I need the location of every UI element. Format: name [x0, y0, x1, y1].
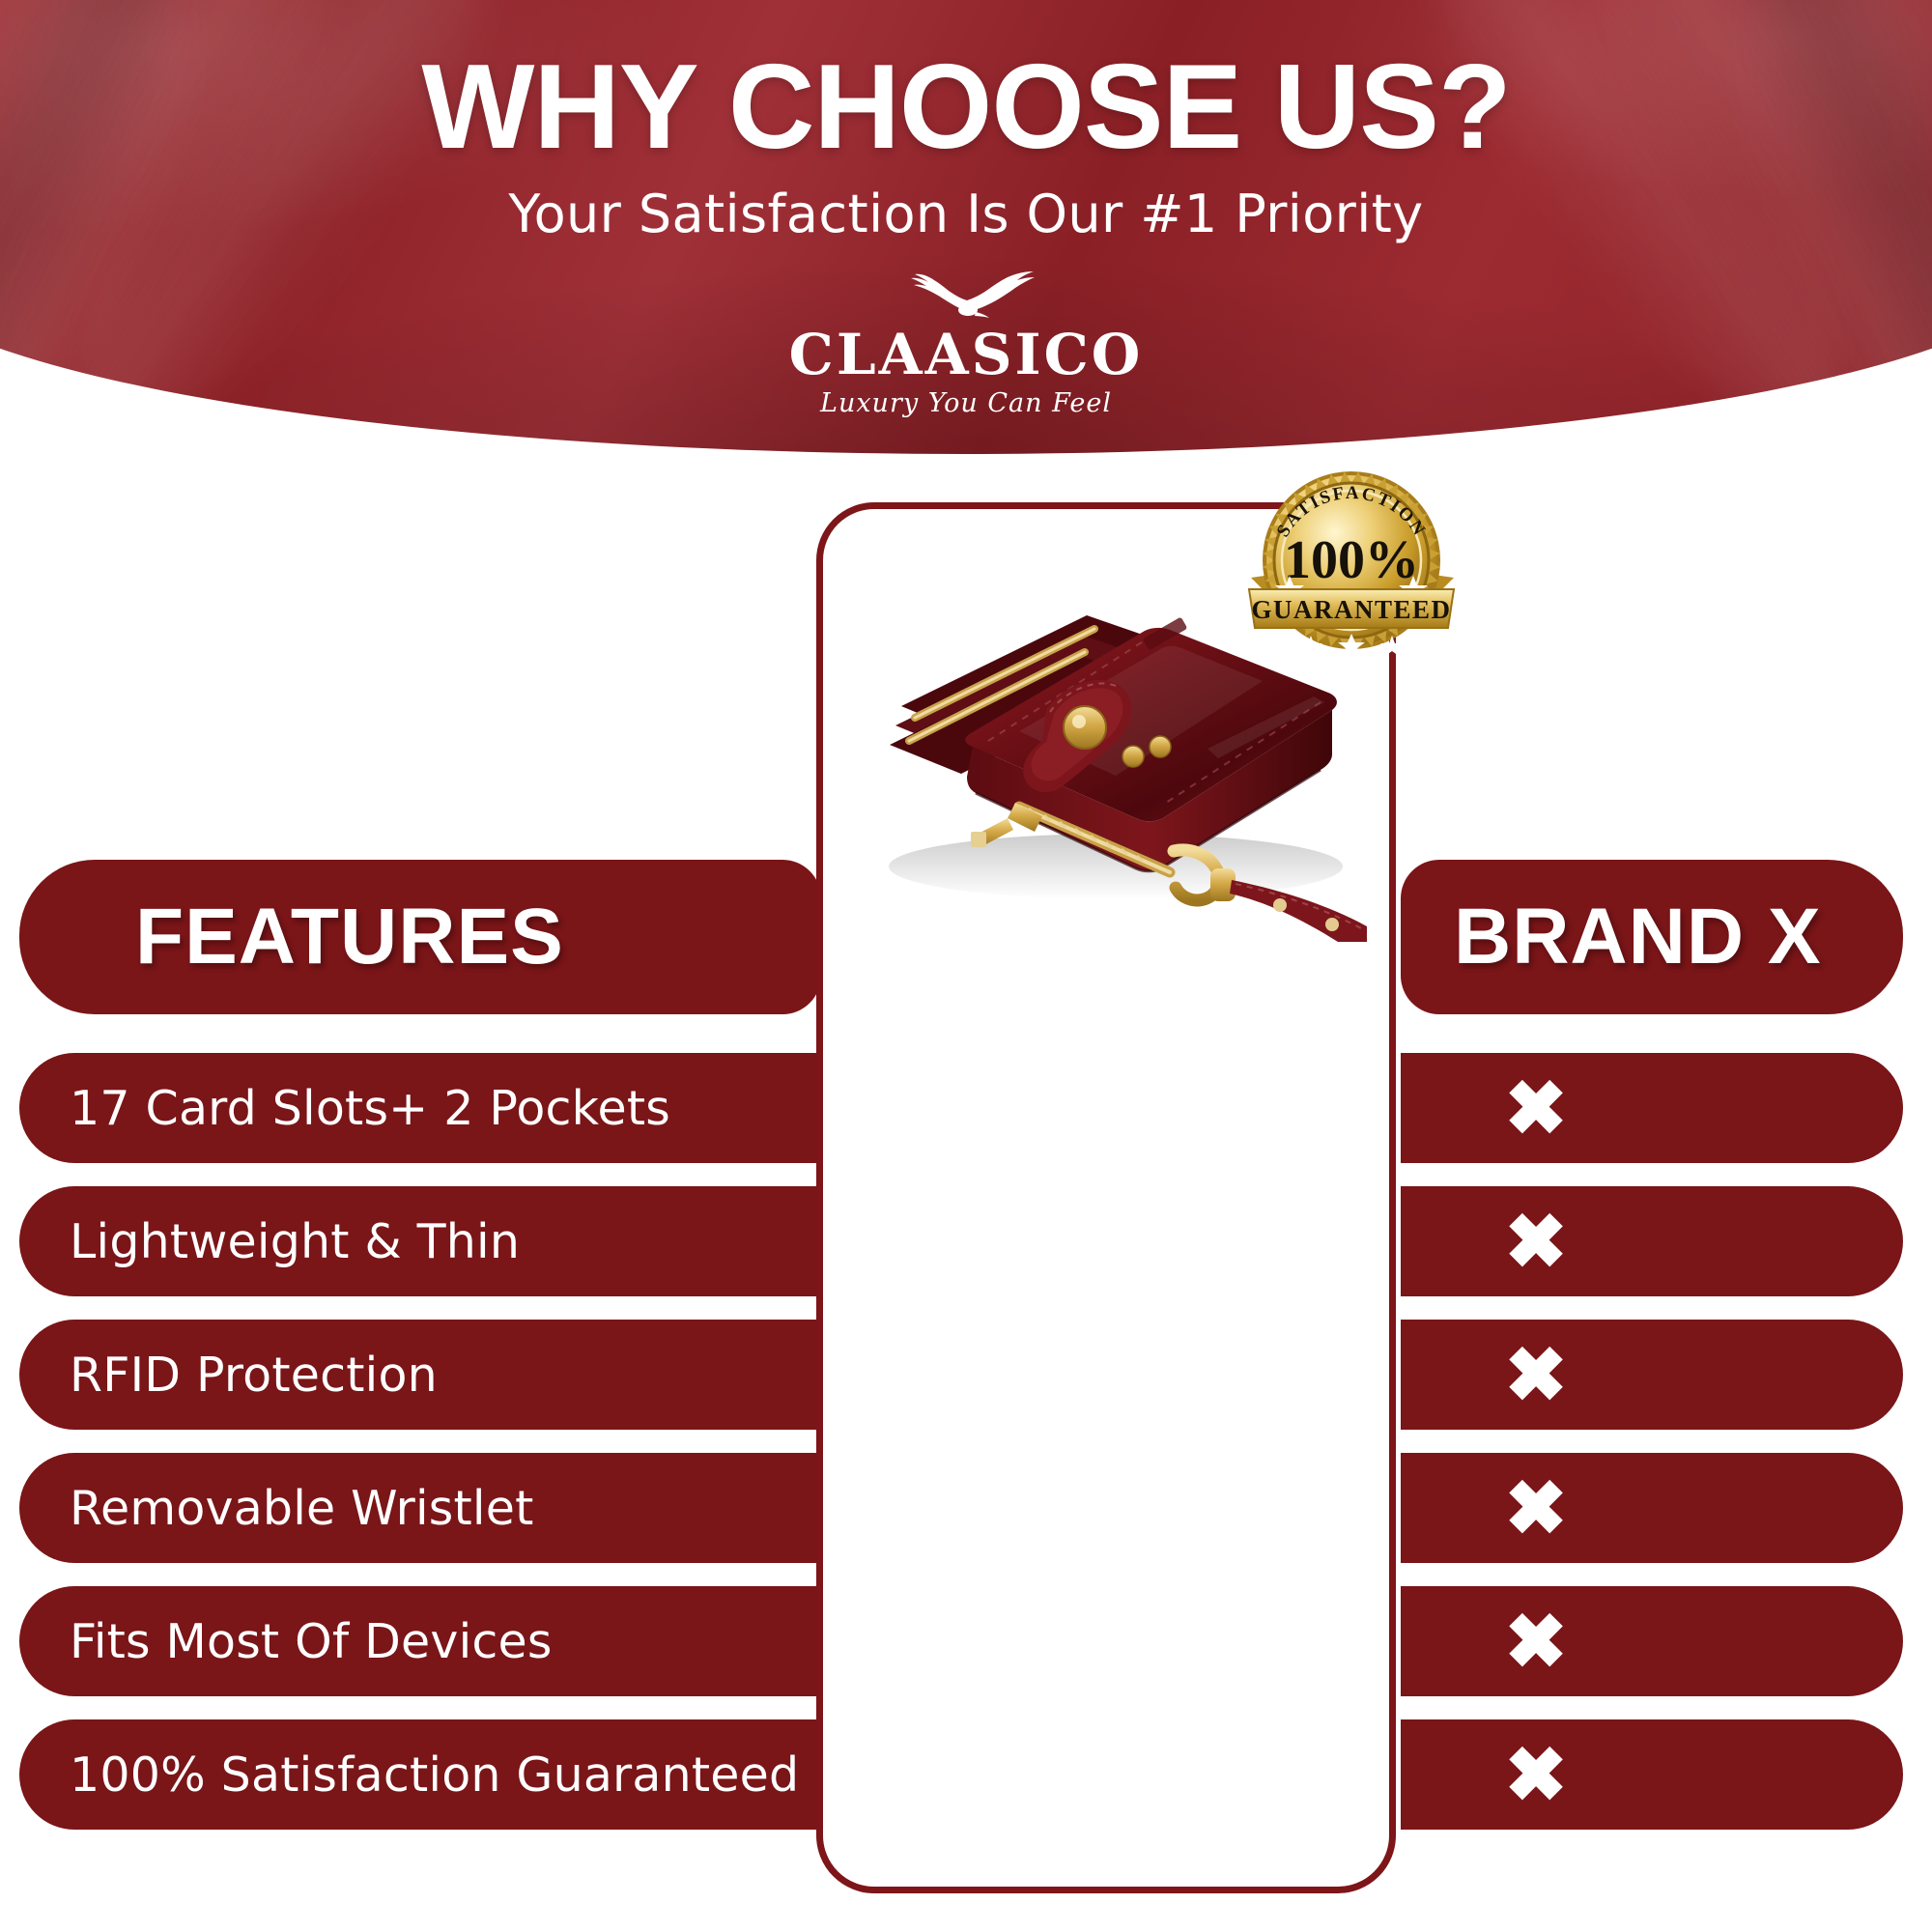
feature-row-label: Removable Wristlet	[19, 1453, 821, 1563]
feature-text: Lightweight & Thin	[70, 1214, 520, 1269]
feature-text: Removable Wristlet	[70, 1481, 534, 1536]
feature-text: 100% Satisfaction Guaranteed	[70, 1747, 799, 1803]
feature-row-label: 100% Satisfaction Guaranteed	[19, 1719, 821, 1830]
brand-x-cell: ✖	[1401, 1320, 1903, 1430]
brand-x-cell: ✖	[1401, 1586, 1903, 1696]
satisfaction-guarantee-badge: SATISFACTION 100% GUARANTEED	[1241, 464, 1463, 657]
brand-x-label: BRAND X	[1454, 892, 1822, 982]
brand-x-cell: ✖	[1401, 1453, 1903, 1563]
cross-icon: ✖	[1504, 1737, 1567, 1812]
column-header-features: FEATURES	[19, 860, 821, 1014]
badge-value: 100%	[1284, 530, 1419, 590]
feature-text: 17 Card Slots+ 2 Pockets	[70, 1081, 670, 1136]
feature-text: RFID Protection	[70, 1348, 438, 1403]
badge-ribbon-text: GUARANTEED	[1251, 595, 1451, 624]
brand-x-cell: ✖	[1401, 1186, 1903, 1296]
cross-icon: ✖	[1504, 1070, 1567, 1146]
feature-row-label: Fits Most Of Devices	[19, 1586, 821, 1696]
features-label: FEATURES	[135, 892, 564, 982]
brand-x-cell: ✖	[1401, 1053, 1903, 1163]
cross-icon: ✖	[1504, 1204, 1567, 1279]
feature-row-label: Lightweight & Thin	[19, 1186, 821, 1296]
feature-row-label: 17 Card Slots+ 2 Pockets	[19, 1053, 821, 1163]
cross-icon: ✖	[1504, 1604, 1567, 1679]
cross-icon: ✖	[1504, 1337, 1567, 1412]
brand-x-cell: ✖	[1401, 1719, 1903, 1830]
feature-text: Fits Most Of Devices	[70, 1614, 553, 1669]
feature-row-label: RFID Protection	[19, 1320, 821, 1430]
column-header-brand-x: BRAND X	[1401, 860, 1903, 1014]
cross-icon: ✖	[1504, 1470, 1567, 1546]
